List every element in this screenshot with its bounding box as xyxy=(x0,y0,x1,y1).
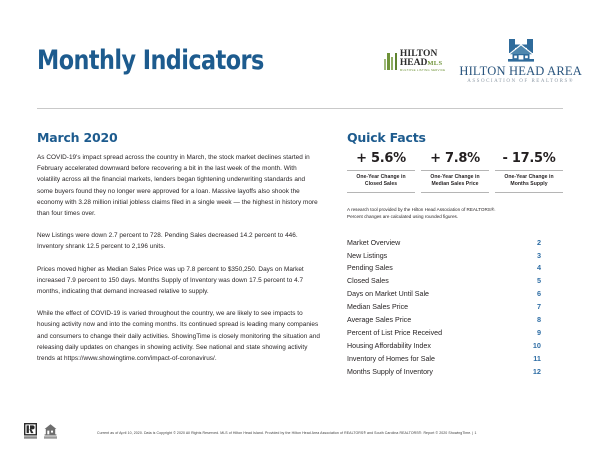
toc-item-label: Pending Sales xyxy=(347,263,393,274)
mls-logo-line2: HEAD xyxy=(400,58,427,68)
toc-item-inventory-of-homes-for-sale[interactable]: Inventory of Homes for Sale 11 xyxy=(347,352,563,365)
toc-item-page: 2 xyxy=(525,237,563,248)
toc-item-page: 9 xyxy=(525,327,563,338)
toc-item-page: 4 xyxy=(525,262,563,273)
quick-fact-label-line1: One-Year Change in xyxy=(347,174,415,181)
footer-logo-group xyxy=(24,423,57,439)
section-title-month: March 2020 xyxy=(37,130,321,145)
toc-item-label: New Listings xyxy=(347,251,387,262)
logo-group: HILTON HEADMLS MULTIPLE LISTING SERVICE xyxy=(384,38,582,84)
hilton-head-mls-logo: HILTON HEADMLS MULTIPLE LISTING SERVICE xyxy=(384,50,446,72)
toc-item-label: Average Sales Price xyxy=(347,315,411,326)
toc-item-page: 6 xyxy=(525,288,563,299)
quick-fact-label-line2: Median Sales Price xyxy=(421,181,489,188)
quick-facts-disclaimer-line1: A research tool provided by the Hilton H… xyxy=(347,206,563,213)
realtor-logo-icon xyxy=(24,423,37,439)
toc-item-percent-of-list-price-received[interactable]: Percent of List Price Received 9 xyxy=(347,327,563,340)
quick-facts-disclaimer: A research tool provided by the Hilton H… xyxy=(347,206,563,220)
toc-item-label: Inventory of Homes for Sale xyxy=(347,354,435,365)
toc-item-months-supply-of-inventory[interactable]: Months Supply of Inventory 12 xyxy=(347,365,563,378)
commentary-paragraph: While the effect of COVID-19 is varied t… xyxy=(37,308,321,364)
hhar-logo-line1: HILTON HEAD AREA xyxy=(459,65,582,78)
toc-item-days-on-market-until-sale[interactable]: Days on Market Until Sale 6 xyxy=(347,288,563,301)
toc-item-closed-sales[interactable]: Closed Sales 5 xyxy=(347,275,563,288)
quick-fact-rule-bottom xyxy=(495,192,563,193)
header-divider xyxy=(37,108,563,109)
quick-facts-column: Quick Facts + 5.6% One-Year Change in Cl… xyxy=(347,130,563,378)
hilton-head-area-realtors-logo: HILTON HEAD AREA ASSOCIATION OF REALTORS… xyxy=(459,38,582,84)
page-title: Monthly Indicators xyxy=(37,45,264,76)
house-h-icon xyxy=(506,38,536,63)
quick-fact-value: + 5.6% xyxy=(347,151,415,170)
toc-item-label: Market Overview xyxy=(347,238,400,249)
quick-fact-label-line1: One-Year Change in xyxy=(495,174,563,181)
page-footer: Current as of April 10, 2020. Data is Co… xyxy=(0,419,600,463)
toc-item-label: Days on Market Until Sale xyxy=(347,289,429,300)
toc-item-page: 8 xyxy=(525,314,563,325)
commentary-paragraph: As COVID-19's impact spread across the c… xyxy=(37,152,321,219)
toc-item-housing-affordability-index[interactable]: Housing Affordability Index 10 xyxy=(347,339,563,352)
commentary-paragraph: New Listings were down 2.7 percent to 72… xyxy=(37,230,321,252)
toc-item-average-sales-price[interactable]: Average Sales Price 8 xyxy=(347,314,563,327)
mls-logo-suffix: MLS xyxy=(427,60,442,67)
toc-item-page: 5 xyxy=(525,275,563,286)
commentary-paragraph: Prices moved higher as Median Sales Pric… xyxy=(37,264,321,298)
toc-item-label: Percent of List Price Received xyxy=(347,328,442,339)
quick-fact-value: + 7.8% xyxy=(421,151,489,170)
toc-item-median-sales-price[interactable]: Median Sales Price 7 xyxy=(347,301,563,314)
table-of-contents: Market Overview 2 New Listings 3 Pending… xyxy=(347,236,563,378)
toc-item-page: 11 xyxy=(525,353,563,364)
quick-facts-heading: Quick Facts xyxy=(347,130,563,145)
toc-item-label: Closed Sales xyxy=(347,276,389,287)
mls-logo-tagline: MULTIPLE LISTING SERVICE xyxy=(400,69,445,72)
quick-fact-rule-bottom xyxy=(421,192,489,193)
quick-fact-months-supply: - 17.5% One-Year Change in Months Supply xyxy=(495,151,563,193)
toc-item-label: Median Sales Price xyxy=(347,302,408,313)
toc-item-pending-sales[interactable]: Pending Sales 4 xyxy=(347,262,563,275)
toc-item-page: 12 xyxy=(525,366,563,377)
hhar-logo-line2: ASSOCIATION OF REALTORS® xyxy=(459,79,582,84)
toc-item-page: 10 xyxy=(525,340,563,351)
toc-item-market-overview[interactable]: Market Overview 2 xyxy=(347,236,563,249)
quick-fact-closed-sales: + 5.6% One-Year Change in Closed Sales xyxy=(347,151,415,193)
quick-fact-median-sales-price: + 7.8% One-Year Change in Median Sales P… xyxy=(421,151,489,193)
quick-facts-disclaimer-line2: Percent changes are calculated using rou… xyxy=(347,213,563,220)
quick-fact-label-line1: One-Year Change in xyxy=(421,174,489,181)
commentary-column: March 2020 As COVID-19's impact spread a… xyxy=(37,130,321,364)
footer-disclaimer: Current as of April 10, 2020. Data is Co… xyxy=(97,431,476,435)
toc-item-page: 7 xyxy=(525,301,563,312)
toc-item-page: 3 xyxy=(525,250,563,261)
toc-item-label: Months Supply of Inventory xyxy=(347,367,433,378)
quick-fact-value: - 17.5% xyxy=(495,151,563,170)
quick-facts-row: + 5.6% One-Year Change in Closed Sales +… xyxy=(347,151,563,193)
page-header: Monthly Indicators HILTON HEADMLS MULTIP… xyxy=(0,0,600,108)
equal-housing-opportunity-icon xyxy=(44,423,57,439)
quick-fact-label-line2: Months Supply xyxy=(495,181,563,188)
quick-fact-label-line2: Closed Sales xyxy=(347,181,415,188)
toc-item-new-listings[interactable]: New Listings 3 xyxy=(347,249,563,262)
toc-item-label: Housing Affordability Index xyxy=(347,341,431,352)
mls-bars-icon xyxy=(384,53,397,70)
quick-fact-rule-bottom xyxy=(347,192,415,193)
